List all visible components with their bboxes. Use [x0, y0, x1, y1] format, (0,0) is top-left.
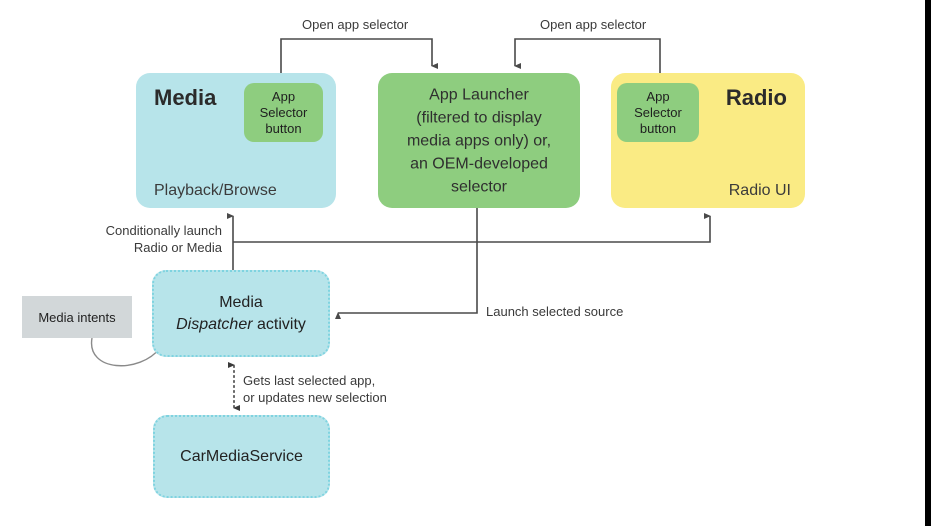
node-media-intents: Media intents [22, 296, 132, 338]
edge-label-gets-last-selected-app: Gets last selected app, or updates new s… [243, 372, 387, 406]
right-edge-band [925, 0, 931, 526]
node-car-media-service-label: CarMediaService [180, 448, 303, 466]
node-media-dispatcher-line2-rest: activity [253, 316, 306, 333]
edge-launch-selected-source [338, 208, 477, 313]
node-media-dispatcher-line1: Media [219, 294, 263, 311]
node-media-dispatcher-label: Media Dispatcher activity [176, 292, 306, 336]
card-app-launcher[interactable]: App Launcher (filtered to display media … [378, 73, 580, 208]
diagram-canvas: Open app selector Open app selector Cond… [0, 0, 931, 526]
node-media-dispatcher-activity[interactable]: Media Dispatcher activity [152, 270, 330, 357]
edge-label-conditionally-launch: Conditionally launch Radio or Media [30, 222, 222, 256]
node-car-media-service[interactable]: CarMediaService [153, 415, 330, 498]
edge-open-app-selector-right [515, 39, 660, 73]
edge-label-open-app-selector-right: Open app selector [540, 16, 646, 33]
card-radio-footer: Radio UI [729, 182, 791, 200]
edge-open-app-selector-left [281, 39, 432, 73]
edge-label-open-app-selector-left: Open app selector [302, 16, 408, 33]
card-media-title: Media [154, 85, 216, 111]
edge-label-launch-selected-source: Launch selected source [486, 303, 623, 320]
card-radio-title: Radio [726, 85, 787, 111]
app-selector-button-radio[interactable]: App Selector button [617, 83, 699, 142]
card-media-footer: Playback/Browse [154, 182, 277, 200]
app-selector-button-media[interactable]: App Selector button [244, 83, 323, 142]
edge-conditionally-launch-radio [233, 216, 710, 242]
node-media-dispatcher-emphasis: Dispatcher [176, 316, 252, 333]
card-app-launcher-body: App Launcher (filtered to display media … [378, 83, 580, 198]
